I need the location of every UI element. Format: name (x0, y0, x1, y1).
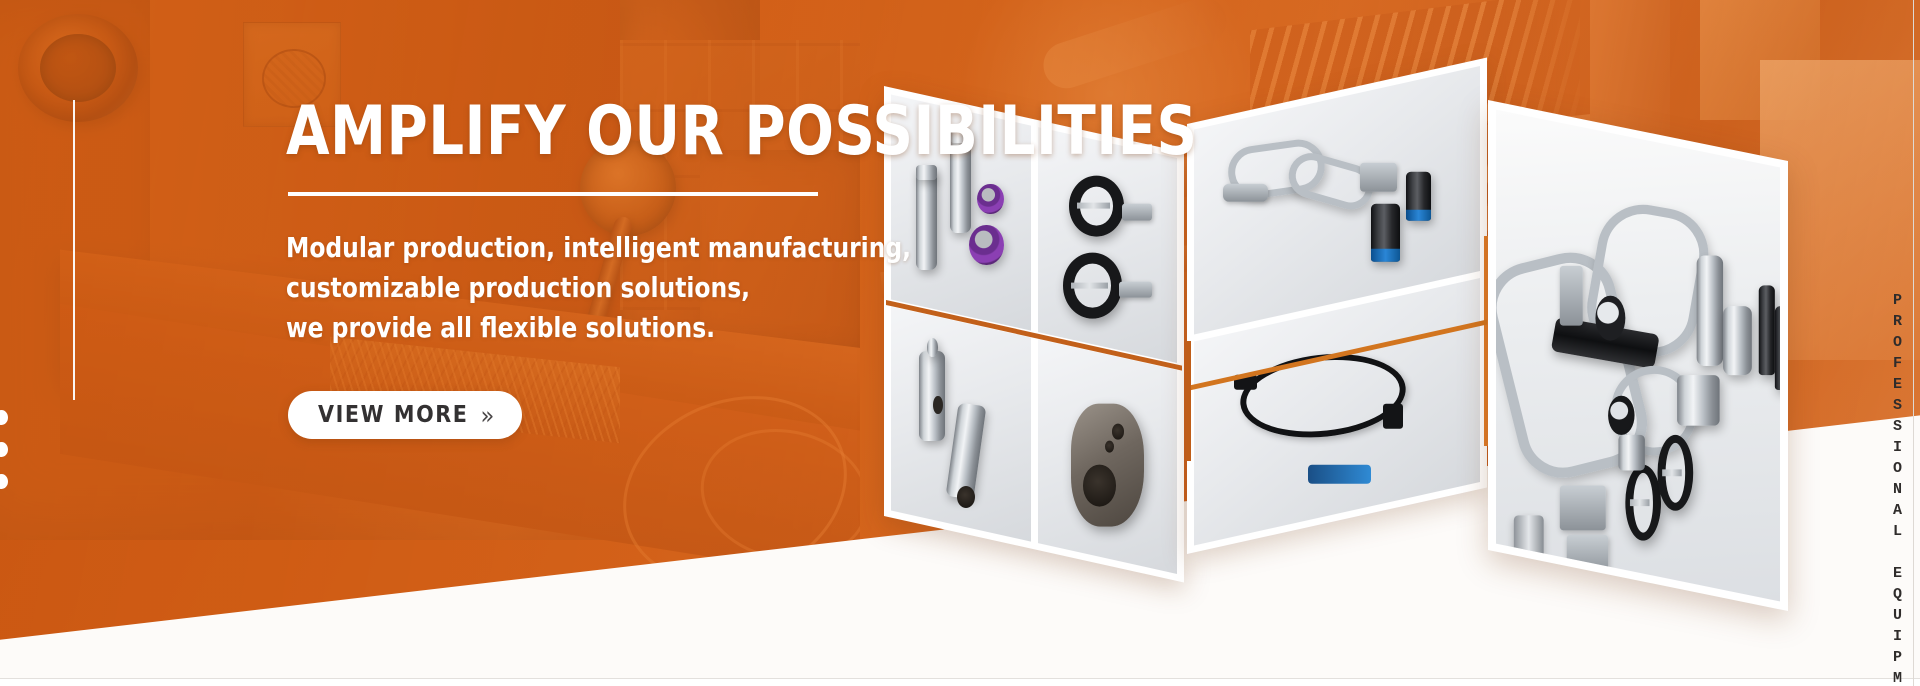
right-edge-rule (1913, 0, 1914, 686)
collage-panel-p7[interactable] (1496, 110, 1780, 602)
view-more-label: VIEW MORE (318, 402, 469, 428)
collage-face-right (1488, 100, 1788, 611)
hero-copy: AMPLIFY OUR POSSIBILITIES Modular produc… (286, 98, 1277, 439)
hero-banner: AMPLIFY OUR POSSIBILITIES Modular produc… (0, 0, 1920, 686)
page-title: AMPLIFY OUR POSSIBILITIES (286, 98, 1198, 166)
slider-dots[interactable] (0, 410, 8, 506)
subtitle-line-3: we provide all flexible solutions. (286, 308, 1207, 348)
side-label: PROFESSIONAL EQUIPMENT (1889, 292, 1906, 686)
title-divider (288, 192, 818, 196)
subtitle-line-2: customizable production solutions, (286, 268, 1207, 308)
subtitle-line-1: Modular production, intelligent manufact… (286, 228, 1207, 268)
double-chevron-right-icon: » (481, 403, 496, 428)
hero-subtitle: Modular production, intelligent manufact… (286, 228, 1207, 347)
slider-dot-1[interactable] (0, 410, 8, 425)
left-vertical-rule (73, 100, 75, 400)
view-more-button[interactable]: VIEW MORE » (288, 391, 522, 439)
slider-dot-3[interactable] (0, 474, 8, 489)
bottom-strip (0, 678, 1920, 686)
slider-dot-2[interactable] (0, 442, 8, 457)
